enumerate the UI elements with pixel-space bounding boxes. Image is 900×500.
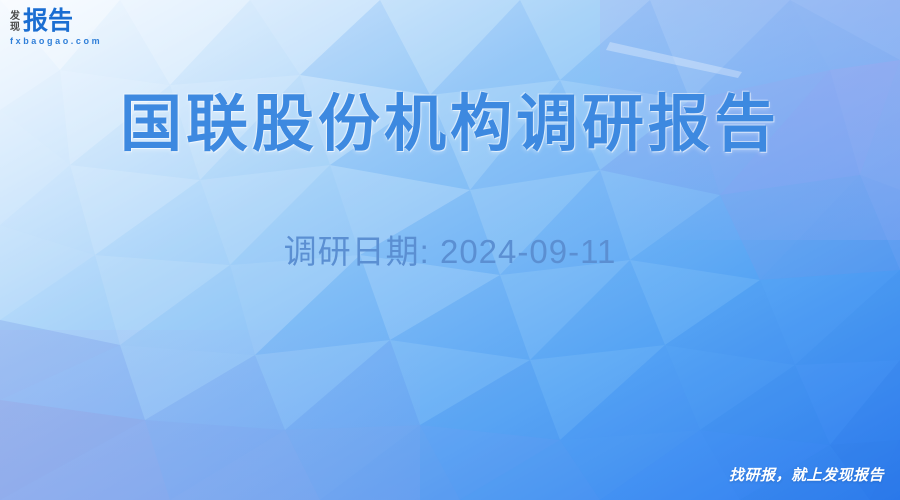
page-title: 国联股份机构调研报告 [0, 88, 900, 162]
logo-domain: fxbaogao.com [10, 36, 102, 46]
brand-logo[interactable]: 发 现 报告 fxbaogao.com [10, 8, 102, 46]
survey-date-subtitle: 调研日期: 2024-09-11 [0, 230, 900, 274]
logo-wordmark: 报告 [23, 8, 73, 34]
logo-char-xian: 现 [10, 22, 20, 33]
title-block: 国联股份机构调研报告 [0, 88, 900, 162]
report-cover: 发 现 报告 fxbaogao.com 国联股份机构调研报告 调研日期: 202… [0, 0, 900, 500]
logo-char-fa: 发 [10, 11, 20, 22]
logo-stacked-chars: 发 现 [10, 10, 20, 33]
logo-wordmark-row: 发 现 报告 [10, 8, 73, 34]
brand-tagline: 找研报，就上发现报告 [729, 466, 884, 486]
